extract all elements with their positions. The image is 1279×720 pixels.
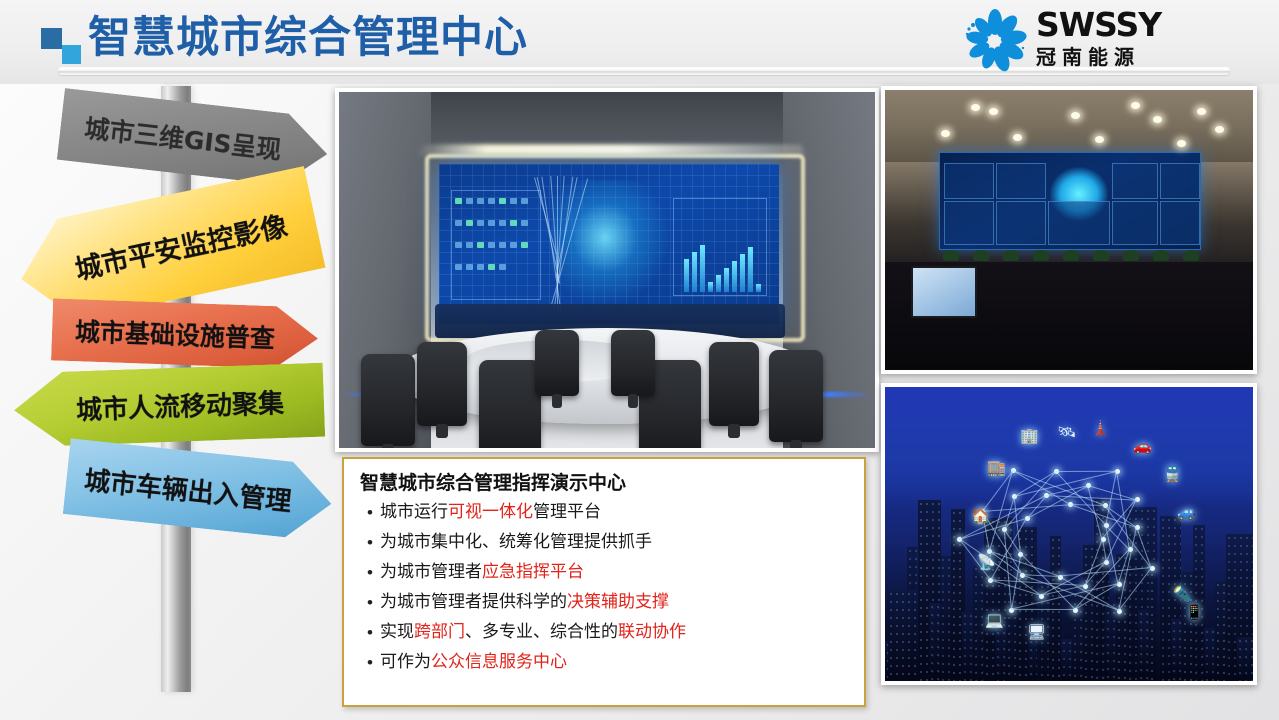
textbox-title: 智慧城市综合管理指挥演示中心 bbox=[360, 471, 850, 495]
office-chair bbox=[535, 330, 579, 396]
list-item: •城市运行可视一体化管理平台 bbox=[360, 500, 850, 525]
header-square-light-icon bbox=[62, 45, 81, 64]
list-item: •为城市集中化、统筹化管理提供抓手 bbox=[360, 530, 850, 555]
list-item-text: 可作为公众信息服务中心 bbox=[380, 650, 567, 675]
iot-device-icon: 🚗 bbox=[1133, 439, 1152, 454]
ceiling-light bbox=[1197, 108, 1206, 115]
list-item: •为城市管理者提供科学的决策辅助支撑 bbox=[360, 590, 850, 615]
sign-label: 城市三维GIS呈现 bbox=[59, 106, 329, 172]
iot-device-icon: 🔦 bbox=[1173, 587, 1192, 602]
ceiling-light bbox=[1095, 136, 1104, 143]
iot-device-icon: 💻 bbox=[985, 613, 1004, 628]
ceiling-light bbox=[1177, 140, 1186, 147]
list-item-text: 为城市集中化、统筹化管理提供抓手 bbox=[380, 530, 652, 555]
slide-header: 智慧城市综合管理中心 bbox=[0, 0, 1279, 84]
iot-device-icon: 🏬 bbox=[987, 461, 1006, 476]
list-item-text: 为城市管理者提供科学的决策辅助支撑 bbox=[380, 590, 669, 615]
bullet-dot-icon: • bbox=[360, 560, 380, 585]
ceiling-light bbox=[1215, 126, 1224, 133]
ceiling-light bbox=[971, 104, 980, 111]
sign-label: 城市基础设施普查 bbox=[51, 311, 318, 356]
description-textbox: 智慧城市综合管理指挥演示中心 •城市运行可视一体化管理平台•为城市集中化、统筹化… bbox=[342, 457, 866, 707]
sign-city-vehicle-access[interactable]: 城市车辆出入管理 bbox=[63, 438, 335, 541]
photo-image bbox=[885, 90, 1253, 370]
company-logo: SWSSY 冠南能源 bbox=[962, 6, 1222, 76]
logo-text-block: SWSSY 冠南能源 bbox=[1036, 8, 1161, 70]
water-drop-flower-icon bbox=[962, 8, 1028, 72]
iot-device-icon: 🚆 bbox=[1163, 467, 1182, 482]
sign-label: 城市平安监控影像 bbox=[17, 198, 319, 299]
bullet-dot-icon: • bbox=[360, 590, 380, 615]
list-item: •可作为公众信息服务中心 bbox=[360, 650, 850, 675]
iot-device-icon: 🗼 bbox=[1091, 421, 1110, 436]
iot-device-icon: 🏠 bbox=[971, 509, 990, 524]
bullet-dot-icon: • bbox=[360, 500, 380, 525]
ceiling-light bbox=[989, 108, 998, 115]
office-chair bbox=[479, 360, 541, 448]
page-title: 智慧城市综合管理中心 bbox=[88, 12, 528, 64]
iot-device-icon: 🏢 bbox=[1020, 429, 1039, 444]
iot-device-icon: 🚙 bbox=[1177, 505, 1196, 520]
ceiling-light bbox=[1013, 134, 1022, 141]
header-square-dark-icon bbox=[41, 28, 62, 49]
iot-device-icon: 🛰 bbox=[1057, 425, 1076, 440]
photo-image bbox=[339, 92, 875, 448]
sign-label: 城市车辆出入管理 bbox=[65, 458, 333, 523]
list-item: •实现跨部门、多专业、综合性的联动协作 bbox=[360, 620, 850, 645]
office-chair bbox=[417, 342, 467, 426]
ceiling-light bbox=[941, 130, 950, 137]
sign-label: 城市人流移动聚集 bbox=[13, 381, 324, 429]
iot-device-icon: 📱 bbox=[1185, 605, 1204, 620]
list-item-text: 实现跨部门、多专业、综合性的联动协作 bbox=[380, 620, 686, 645]
slide-canvas: 智慧城市综合管理中心 bbox=[0, 0, 1279, 720]
iot-device-icon: 🖥 bbox=[1027, 625, 1046, 640]
office-chair bbox=[709, 342, 759, 426]
bullet-list: •城市运行可视一体化管理平台•为城市集中化、统筹化管理提供抓手•为城市管理者应急… bbox=[360, 500, 850, 675]
iot-device-icon: 📡 bbox=[977, 555, 996, 570]
photo-image: 🏢🛰🗼🚗🚆🏠📡🏬💻🖥🚙📱🔦 bbox=[885, 387, 1253, 681]
bullet-dot-icon: • bbox=[360, 650, 380, 675]
ceiling-light bbox=[1071, 112, 1080, 119]
office-chair bbox=[769, 350, 823, 442]
bullet-dot-icon: • bbox=[360, 620, 380, 645]
logo-name: SWSSY bbox=[1036, 8, 1161, 42]
sign-city-infrastructure-census[interactable]: 城市基础设施普查 bbox=[51, 298, 319, 369]
list-item-text: 城市运行可视一体化管理平台 bbox=[380, 500, 601, 525]
photo-power-dispatch-control-room bbox=[881, 86, 1257, 374]
sign-city-crowd-movement[interactable]: 城市人流移动聚集 bbox=[13, 363, 325, 448]
office-chair bbox=[361, 354, 415, 446]
office-chair bbox=[611, 330, 655, 396]
ceiling-light bbox=[1131, 102, 1140, 109]
photo-command-center-round-table bbox=[335, 88, 879, 452]
logo-subtitle: 冠南能源 bbox=[1036, 44, 1161, 70]
ceiling-light bbox=[1153, 116, 1162, 123]
list-item-text: 为城市管理者应急指挥平台 bbox=[380, 560, 584, 585]
bullet-dot-icon: • bbox=[360, 530, 380, 555]
list-item: •为城市管理者应急指挥平台 bbox=[360, 560, 850, 585]
photo-smart-city-iot-network: 🏢🛰🗼🚗🚆🏠📡🏬💻🖥🚙📱🔦 bbox=[881, 383, 1257, 685]
